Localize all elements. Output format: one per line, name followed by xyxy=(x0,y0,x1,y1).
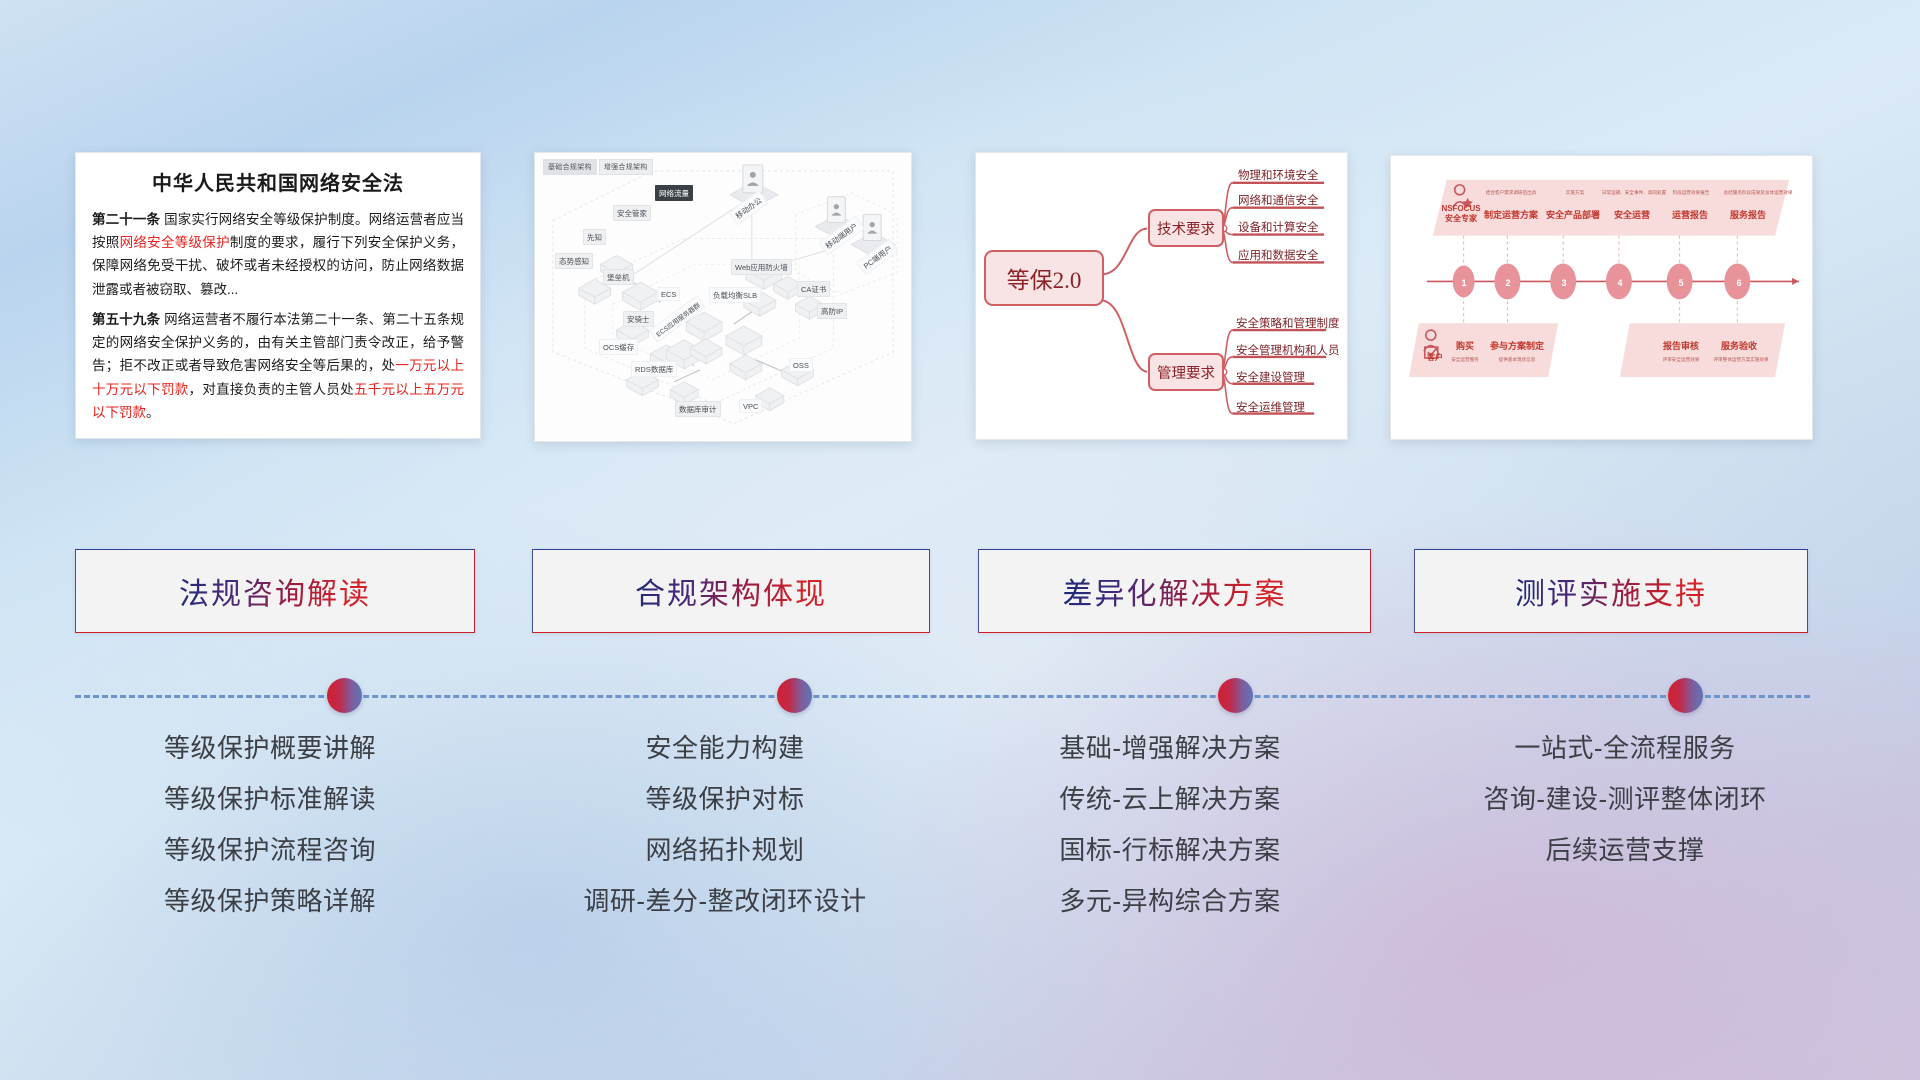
headline-box-compliance-architecture[interactable]: 合规架构体现 xyxy=(532,549,930,633)
detail-column-3: 基础-增强解决方案 传统-云上解决方案 国标-行标解决方案 多元-异构综合方案 xyxy=(945,735,1395,939)
list-item: 等级保护标准解读 xyxy=(45,786,495,812)
list-item: 多元-异构综合方案 xyxy=(945,888,1395,914)
list-item: 网络拓扑规划 xyxy=(500,837,950,863)
headline-box-regulation-consulting[interactable]: 法规咨询解读 xyxy=(75,549,475,633)
list-item: 安全能力构建 xyxy=(500,735,950,761)
list-item: 等级保护概要讲解 xyxy=(45,735,495,761)
detail-column-1: 等级保护概要讲解 等级保护标准解读 等级保护流程咨询 等级保护策略详解 xyxy=(45,735,495,939)
list-item: 国标-行标解决方案 xyxy=(945,837,1395,863)
list-item: 等级保护策略详解 xyxy=(45,888,495,914)
timeline-dot-4[interactable] xyxy=(1668,678,1703,713)
headline-box-assessment-support[interactable]: 测评实施支持 xyxy=(1414,549,1808,633)
timeline-dot-2[interactable] xyxy=(777,678,812,713)
timeline-rail xyxy=(75,694,1810,697)
headline-label-4: 测评实施支持 xyxy=(1515,569,1707,613)
headline-label-2: 合规架构体现 xyxy=(635,569,827,613)
list-item: 咨询-建设-测评整体闭环 xyxy=(1400,786,1850,812)
list-item: 调研-差分-整改闭环设计 xyxy=(500,888,950,914)
list-item: 等级保护对标 xyxy=(500,786,950,812)
timeline-dot-3[interactable] xyxy=(1218,678,1253,713)
timeline-dot-1[interactable] xyxy=(327,678,362,713)
headline-label-3: 差异化解决方案 xyxy=(1063,569,1287,613)
headline-label-1: 法规咨询解读 xyxy=(179,569,371,613)
list-item: 后续运营支撑 xyxy=(1400,837,1850,863)
list-item: 基础-增强解决方案 xyxy=(945,735,1395,761)
list-item: 等级保护流程咨询 xyxy=(45,837,495,863)
headline-box-differentiated-solution[interactable]: 差异化解决方案 xyxy=(978,549,1371,633)
detail-column-4: 一站式-全流程服务 咨询-建设-测评整体闭环 后续运营支撑 xyxy=(1400,735,1850,888)
list-item: 传统-云上解决方案 xyxy=(945,786,1395,812)
detail-column-2: 安全能力构建 等级保护对标 网络拓扑规划 调研-差分-整改闭环设计 xyxy=(500,735,950,939)
list-item: 一站式-全流程服务 xyxy=(1400,735,1850,761)
